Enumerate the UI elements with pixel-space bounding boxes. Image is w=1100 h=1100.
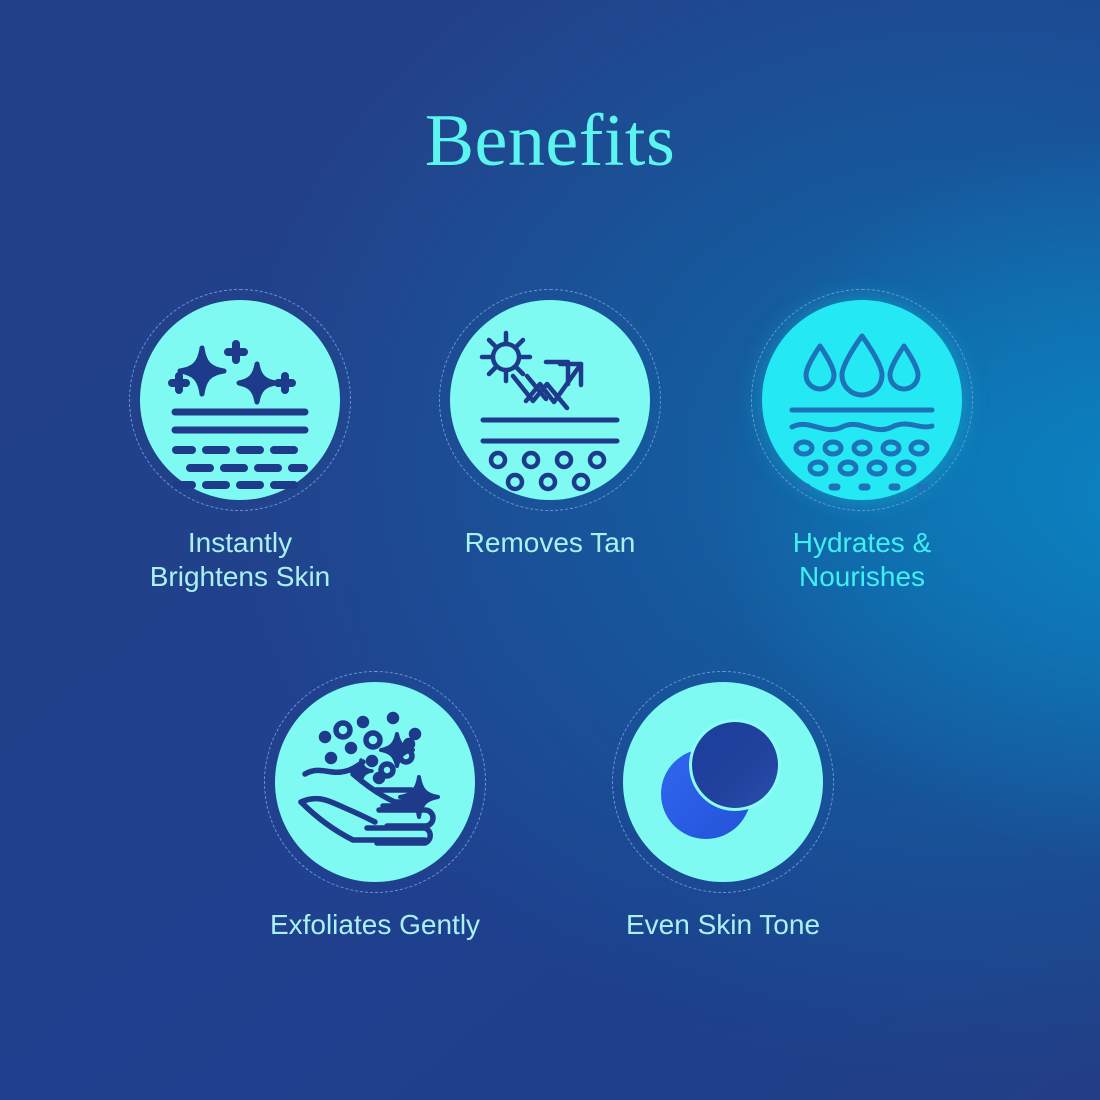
benefit-card-hydrates-and-nourishes[interactable]: Hydrates & Nourishes: [762, 300, 1012, 594]
benefit-label: Removes Tan: [400, 526, 700, 560]
benefit-card-even-skin-tone[interactable]: Even Skin Tone: [623, 682, 873, 942]
benefit-label: Even Skin Tone: [573, 908, 873, 942]
benefit-card-removes-tan[interactable]: Removes Tan: [450, 300, 700, 560]
benefit-badge: [140, 300, 340, 500]
benefit-badge: [450, 300, 650, 500]
benefit-badge: [623, 682, 823, 882]
page-title: Benefits: [0, 104, 1100, 178]
icon-disc: [623, 682, 823, 882]
benefit-label: Instantly Brightens Skin: [90, 526, 390, 594]
icon-disc: [450, 300, 650, 500]
hand-with-sparkles-icon: [275, 682, 475, 882]
overlapping-circles-icon: [623, 682, 823, 882]
benefit-card-instantly-brightens-skin[interactable]: Instantly Brightens Skin: [140, 300, 390, 594]
icon-disc: [275, 682, 475, 882]
benefit-badge: [275, 682, 475, 882]
benefit-label: Exfoliates Gently: [225, 908, 525, 942]
icon-disc: [140, 300, 340, 500]
icon-disc: [762, 300, 962, 500]
water-droplets-over-skin-icon: [762, 300, 962, 500]
benefit-card-exfoliates-gently[interactable]: Exfoliates Gently: [275, 682, 525, 942]
benefit-label: Hydrates & Nourishes: [712, 526, 1012, 594]
sun-with-arrows-over-skin-icon: [450, 300, 650, 500]
sparkles-over-skin-layers-icon: [140, 300, 340, 500]
benefit-badge: [762, 300, 962, 500]
